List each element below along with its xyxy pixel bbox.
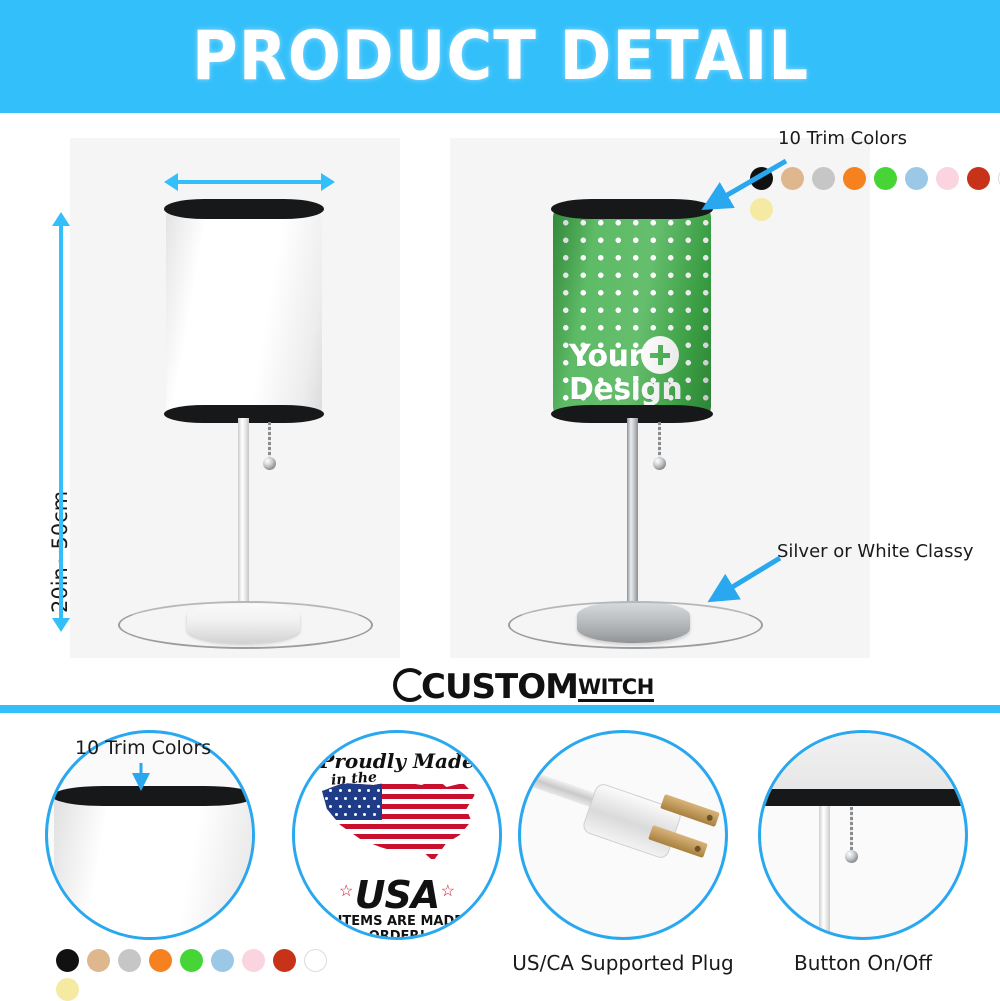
flag-star bbox=[325, 781, 328, 784]
trim-colors-callout-label: 10 Trim Colors bbox=[778, 128, 907, 149]
flag-star bbox=[348, 789, 351, 792]
flag-star bbox=[363, 813, 366, 816]
feature-label-trim-colors: 10 Trim Colors bbox=[75, 737, 211, 759]
width-arrowhead-right bbox=[321, 173, 335, 191]
lamp-pole-silver bbox=[627, 418, 638, 613]
trim-swatch-white[interactable] bbox=[304, 949, 327, 972]
trim-swatch-green[interactable] bbox=[874, 167, 897, 190]
plug-body bbox=[581, 782, 683, 860]
feature-swatch-row-1 bbox=[56, 949, 327, 972]
lampshade-green: Your Design bbox=[553, 208, 711, 416]
button-circle-pull-chain bbox=[850, 807, 853, 853]
feature-circle-plug bbox=[518, 730, 728, 940]
button-circle-black-trim bbox=[758, 789, 968, 806]
flag-star bbox=[329, 789, 332, 792]
height-arrowhead-down bbox=[52, 618, 70, 632]
design-placeholder-line2: Design bbox=[569, 374, 682, 405]
page-title: PRODUCT DETAIL bbox=[191, 17, 808, 96]
flag-star bbox=[329, 805, 332, 808]
lamp-pole bbox=[238, 418, 249, 613]
flag-star bbox=[335, 813, 338, 816]
flag-star bbox=[344, 813, 347, 816]
trim-swatch-light-blue[interactable] bbox=[211, 949, 234, 972]
flag-star bbox=[354, 813, 357, 816]
plus-circle-icon bbox=[641, 336, 679, 374]
brand-name-sub: WITCH bbox=[578, 676, 654, 702]
usa-badge-word: USA bbox=[295, 873, 499, 917]
trim-swatch-green[interactable] bbox=[180, 949, 203, 972]
flag-star bbox=[367, 789, 370, 792]
width-dimension-arrow bbox=[178, 180, 321, 184]
trim-colors-pointer-arrow bbox=[690, 153, 790, 223]
pull-chain-ball bbox=[263, 457, 276, 470]
feature-label-plug: US/CA Supported Plug bbox=[505, 951, 741, 975]
trim-swatch-light-blue[interactable] bbox=[905, 167, 928, 190]
feature-row: 10 Trim Colors Proudly Made in the ☆ USA… bbox=[0, 713, 1000, 1000]
trim-swatch-orange[interactable] bbox=[843, 167, 866, 190]
flag-star bbox=[354, 797, 357, 800]
flag-star bbox=[363, 797, 366, 800]
feature-swatch-row-2 bbox=[56, 978, 79, 1001]
usa-map-flag bbox=[317, 773, 483, 873]
trim-swatch-tan[interactable] bbox=[87, 949, 110, 972]
flag-star bbox=[373, 813, 376, 816]
flag-star bbox=[325, 813, 328, 816]
flag-star bbox=[339, 805, 342, 808]
trim-circle-down-arrow bbox=[130, 761, 154, 795]
trim-swatch-pink[interactable] bbox=[936, 167, 959, 190]
width-arrowhead-left bbox=[164, 173, 178, 191]
lampshade-top-trim bbox=[164, 199, 324, 219]
feature-circle-made-in-usa: Proudly Made in the ☆ USA ☆ ALL ITEMS AR… bbox=[292, 730, 502, 940]
feature-circle-button bbox=[758, 730, 968, 940]
trim-swatch-red[interactable] bbox=[967, 167, 990, 190]
height-dimension-arrow bbox=[59, 226, 63, 618]
flag-star bbox=[335, 797, 338, 800]
flag-star bbox=[348, 805, 351, 808]
lampshade-white bbox=[166, 208, 322, 416]
trim-swatch-red[interactable] bbox=[273, 949, 296, 972]
lampshade-green-top-trim bbox=[551, 199, 713, 219]
feature-label-button: Button On/Off bbox=[758, 951, 968, 975]
power-cord-white bbox=[118, 601, 373, 649]
flag-star bbox=[325, 797, 328, 800]
trim-swatch-pink[interactable] bbox=[242, 949, 265, 972]
flag-star bbox=[377, 805, 380, 808]
usa-star-right: ☆ bbox=[441, 881, 455, 901]
usa-badge-bottom-text: ALL ITEMS ARE MADE TO ORDER! bbox=[295, 914, 499, 940]
flag-star bbox=[377, 789, 380, 792]
trim-swatch-gray[interactable] bbox=[118, 949, 141, 972]
height-arrowhead-up bbox=[52, 212, 70, 226]
plug-prong-hole-upper bbox=[706, 814, 714, 822]
trim-swatch-gray[interactable] bbox=[812, 167, 835, 190]
pull-chain-green bbox=[658, 422, 661, 460]
trim-swatch-yellow[interactable] bbox=[56, 978, 79, 1001]
usa-badge-line1: Proudly Made bbox=[295, 749, 499, 773]
brand-name-main: CUSTOM bbox=[421, 672, 578, 702]
trim-swatch-black[interactable] bbox=[56, 949, 79, 972]
pull-chain bbox=[268, 422, 271, 460]
divider-strip bbox=[0, 705, 1000, 713]
plug-prong-hole-lower bbox=[694, 845, 702, 853]
base-finish-callout-label: Silver or White Classy bbox=[777, 541, 973, 562]
button-circle-shade bbox=[758, 730, 968, 795]
button-circle-pole bbox=[819, 806, 830, 940]
trim-swatch-orange[interactable] bbox=[149, 949, 172, 972]
flag-star bbox=[358, 789, 361, 792]
header-banner: PRODUCT DETAIL bbox=[0, 0, 1000, 113]
main-stage: 7in~18cm 20in~50cm Your Design 1 bbox=[0, 113, 1000, 705]
pull-chain-ball-green bbox=[653, 457, 666, 470]
usa-badge: Proudly Made in the ☆ USA ☆ ALL ITEMS AR… bbox=[295, 733, 499, 937]
flag-star bbox=[339, 789, 342, 792]
trim-circle-shade bbox=[54, 795, 254, 940]
flag-star bbox=[358, 805, 361, 808]
flag-star bbox=[344, 797, 347, 800]
flag-star bbox=[367, 805, 370, 808]
design-placeholder-line1: Your bbox=[569, 341, 643, 372]
button-circle-chain-ball bbox=[845, 850, 858, 863]
flag-star bbox=[373, 797, 376, 800]
base-finish-pointer-arrow bbox=[700, 553, 790, 613]
brand-logo: CUSTOM WITCH bbox=[393, 668, 654, 702]
